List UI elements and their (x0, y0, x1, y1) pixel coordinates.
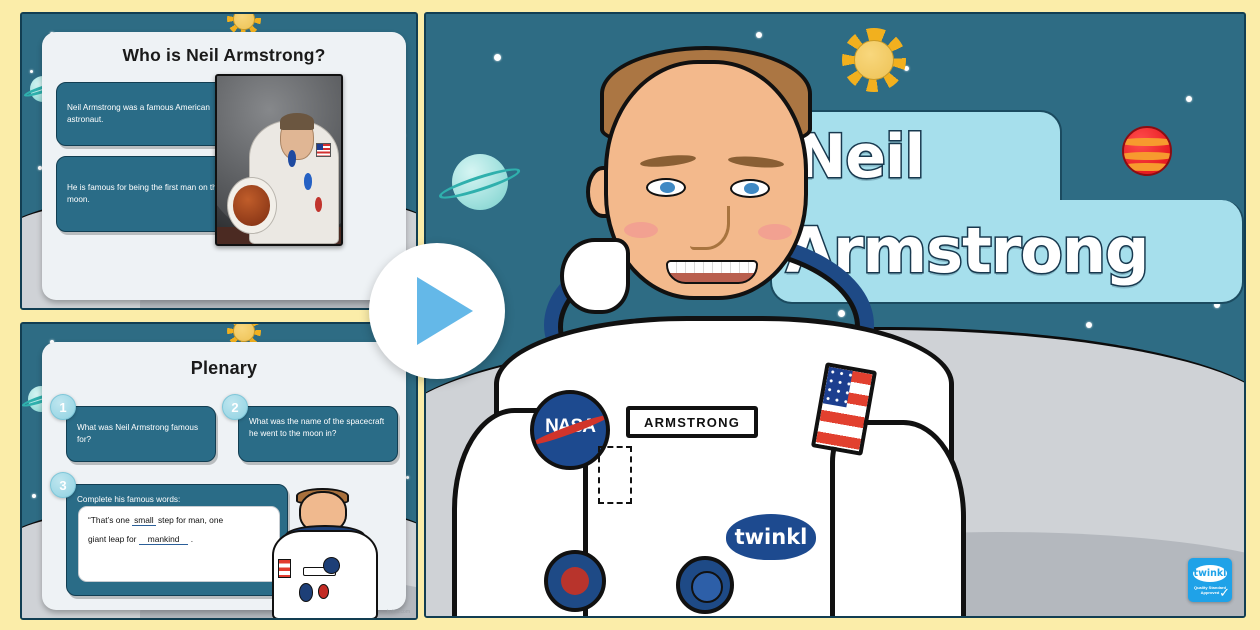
star-icon (30, 70, 33, 73)
watermark: twinkl.com (387, 609, 410, 615)
plenary-question-1: What was Neil Armstrong famous for? (66, 406, 216, 462)
famous-words-line-2: giant leap for mankind . (88, 530, 270, 549)
main-slide-neil-armstrong[interactable]: Neil Armstrong ARMSTRONG (424, 12, 1246, 618)
page-title: Plenary (42, 358, 406, 379)
suit-dial-red (544, 550, 606, 612)
helmet-ear-pad (560, 238, 630, 314)
eye-left (646, 178, 686, 197)
cheek-right (758, 224, 792, 240)
check-icon: ✓ (1219, 585, 1230, 601)
slide-thumbnail-plenary[interactable]: Plenary 1 What was Neil Armstrong famous… (20, 322, 418, 620)
star-icon (406, 476, 409, 479)
twinkl-badge-brand: twinkl (1193, 565, 1227, 582)
blank-answer-1[interactable]: small (132, 515, 156, 526)
star-icon (1086, 322, 1092, 328)
famous-words-answer-box: “That’s one small step for man, one gian… (78, 506, 280, 582)
play-button[interactable] (369, 243, 505, 379)
info-box-2: He is famous for being the first man on … (56, 156, 236, 232)
name-badge: ARMSTRONG (626, 406, 758, 438)
info-box-1: Neil Armstrong was a famous American ast… (56, 82, 236, 146)
mars-planet-icon (1122, 126, 1172, 176)
slide-card: Plenary 1 What was Neil Armstrong famous… (42, 342, 406, 610)
question-number-1: 1 (50, 394, 76, 420)
famous-words-line-1: “That’s one small step for man, one (88, 511, 270, 530)
blank-answer-2[interactable]: mankind (139, 534, 189, 545)
play-triangle-icon (417, 277, 473, 345)
star-icon (32, 494, 36, 498)
question-number-3: 3 (50, 472, 76, 498)
twinkl-logo: twinkl (726, 514, 816, 560)
smiling-mouth (666, 260, 758, 284)
suit-dial-blue (676, 556, 734, 614)
cheek-left (624, 222, 658, 238)
star-icon (1186, 96, 1192, 102)
neil-armstrong-photo (215, 74, 343, 246)
question-number-2: 2 (222, 394, 248, 420)
eye-right (730, 179, 770, 198)
page-title: Who is Neil Armstrong? (42, 45, 406, 66)
suit-pocket (598, 446, 632, 504)
slide-thumbnail-who-is-neil-armstrong[interactable]: Who is Neil Armstrong? Neil Armstrong wa… (20, 12, 418, 310)
astronaut-illustration: ARMSTRONG twinkl (500, 16, 948, 616)
astronaut-cartoon (270, 488, 380, 620)
twinkl-badge-line-2: Approved (1201, 590, 1220, 595)
slide-card: Who is Neil Armstrong? Neil Armstrong wa… (42, 32, 406, 300)
twinkl-quality-badge[interactable]: twinkl Quality Standard Approved ✓ (1188, 558, 1232, 602)
plenary-question-2: What was the name of the spacecraft he w… (238, 406, 398, 462)
screenshot-stage: Who is Neil Armstrong? Neil Armstrong wa… (0, 0, 1260, 630)
